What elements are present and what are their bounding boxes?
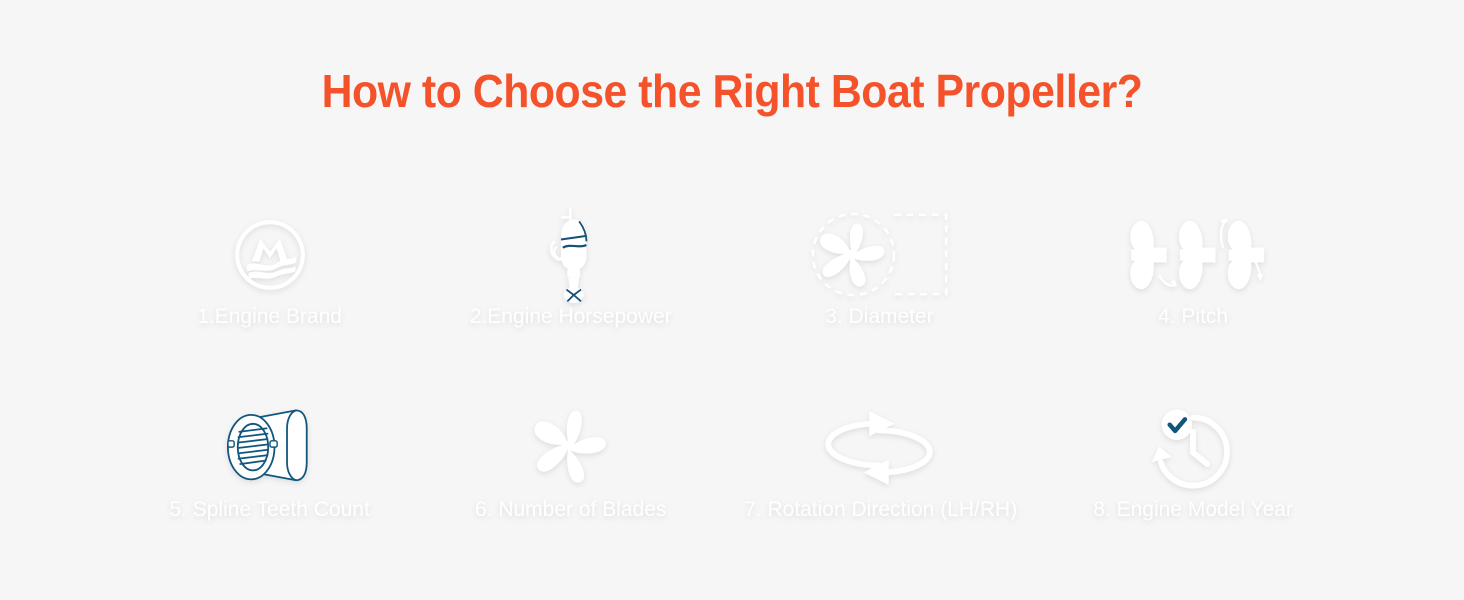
card-pitch[interactable]: 4. Pitch <box>1019 189 1374 361</box>
card-spline-teeth-count[interactable]: 5. Spline Teeth Count <box>108 382 438 554</box>
card-label: 6. Number of Blades <box>475 496 666 523</box>
card-label: 4. Pitch <box>1158 303 1228 330</box>
clock-check-icon <box>1150 404 1236 492</box>
card-label: 2.Engine Horsepower <box>470 303 672 330</box>
spline-hub-icon <box>220 404 320 492</box>
infographic-container: How to Choose the Right Boat Propeller? … <box>0 0 1464 600</box>
card-rotation-direction[interactable]: 7. Rotation Direction (LH/RH) <box>711 382 1056 554</box>
mercury-logo-icon <box>229 211 311 299</box>
card-label: 8. Engine Model Year <box>1093 496 1293 523</box>
card-label: 3. Diameter <box>825 303 934 330</box>
propeller-diameter-icon <box>807 211 952 299</box>
page-title: How to Choose the Right Boat Propeller? <box>51 64 1413 118</box>
card-diameter[interactable]: 3. Diameter <box>711 189 1056 361</box>
card-label left-align: 7. Rotation Direction (LH/RH) <box>738 496 1021 523</box>
outboard-motor-icon <box>536 211 606 299</box>
card-engine-brand[interactable]: 1.Engine Brand <box>108 189 438 361</box>
card-label: 1.Engine Brand <box>197 303 342 330</box>
four-blade-propeller-icon <box>521 404 621 492</box>
card-engine-horsepower[interactable]: 2.Engine Horsepower <box>402 189 747 361</box>
propeller-pitch-icon <box>1118 211 1268 299</box>
card-number-of-blades[interactable]: 6. Number of Blades <box>402 382 747 554</box>
card-engine-model-year[interactable]: 8. Engine Model Year <box>1019 382 1374 554</box>
bottom-row: 5. Spline Teeth Count 6. Number of Blade… <box>108 382 1374 554</box>
card-label: 5. Spline Teeth Count <box>169 496 369 523</box>
top-row: 1.Engine Brand <box>108 189 1374 361</box>
rotation-arrows-icon <box>820 404 938 492</box>
